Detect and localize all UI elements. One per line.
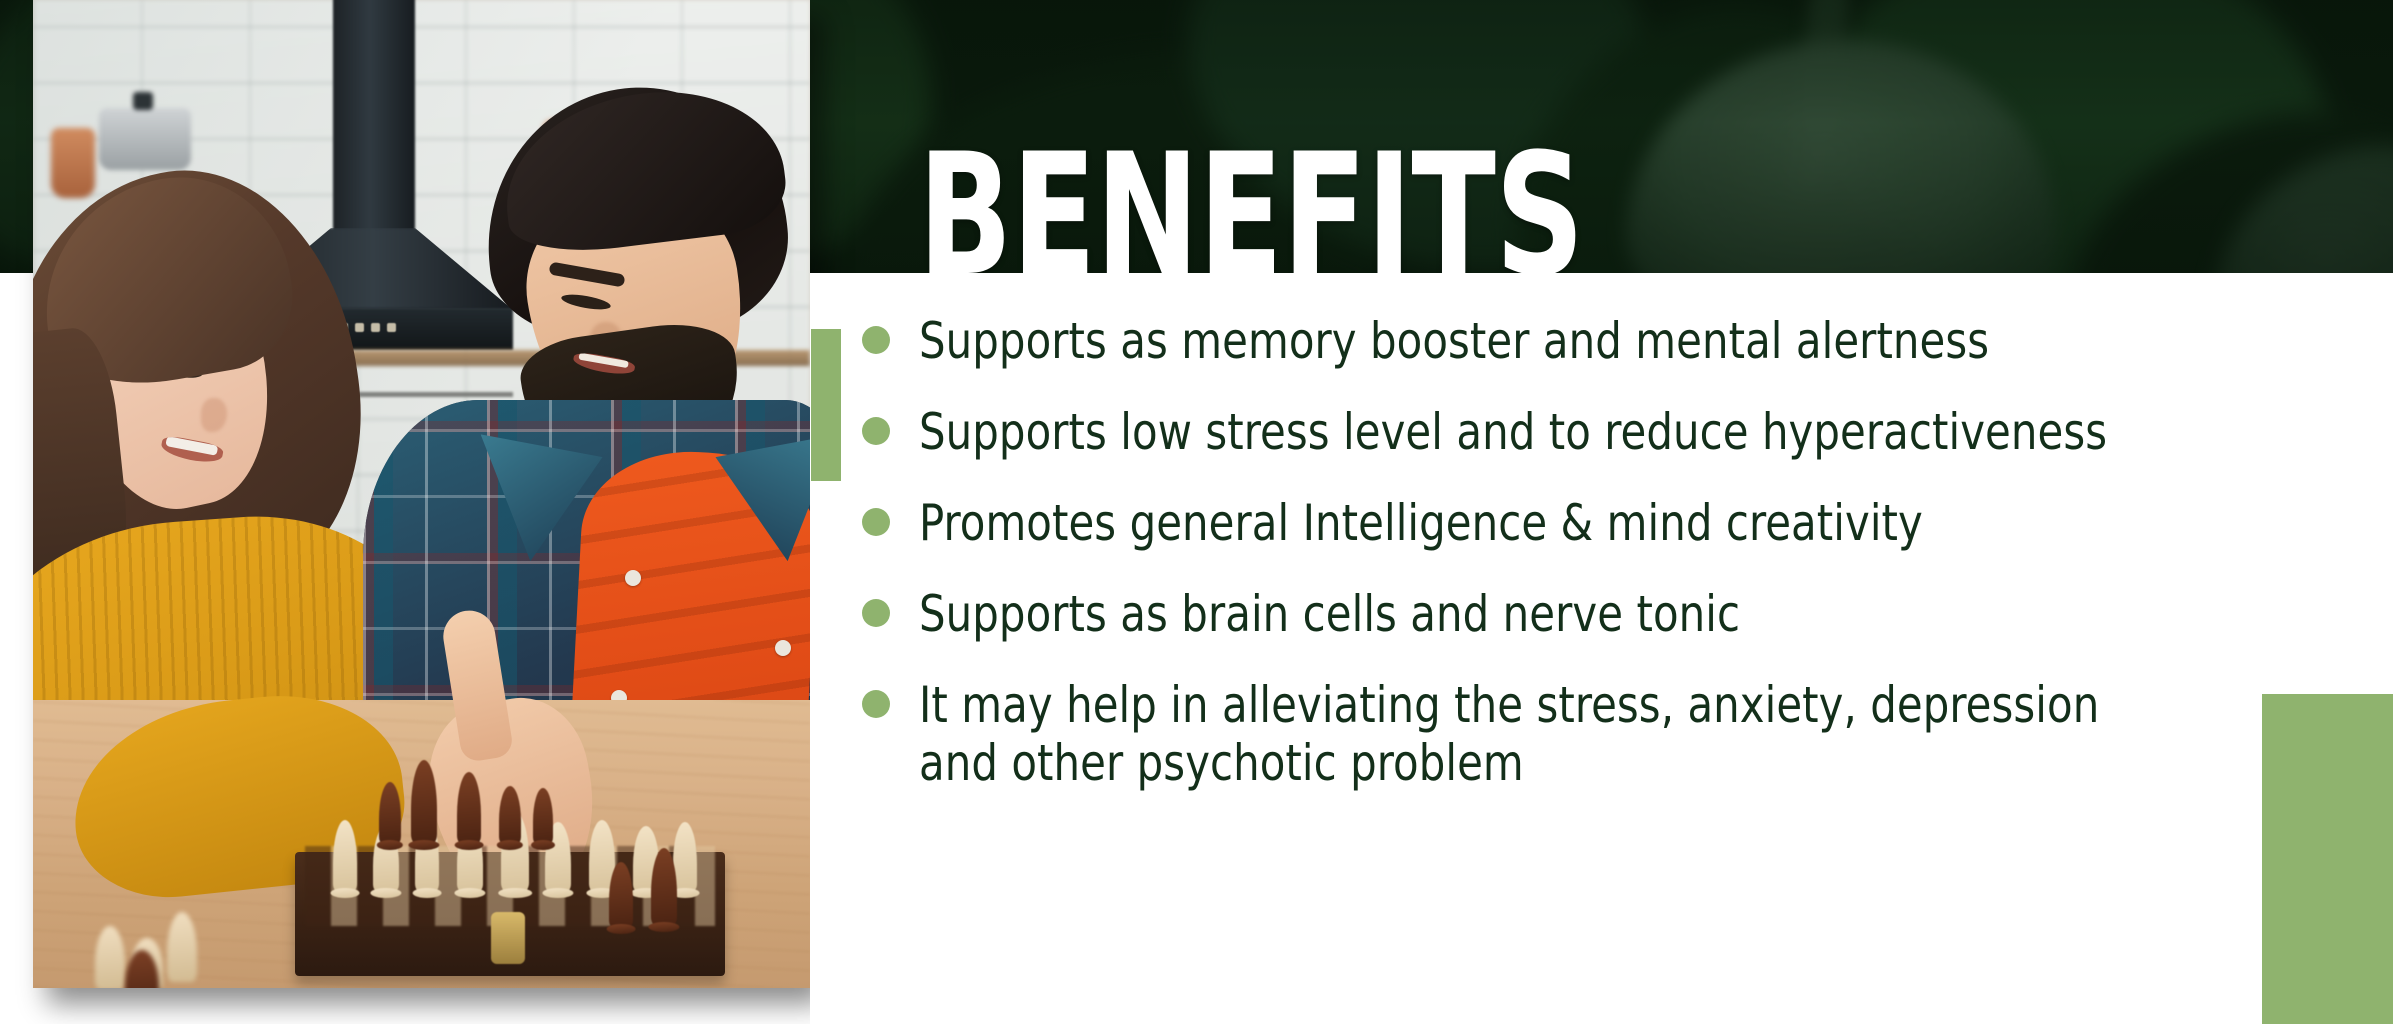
list-item: Supports as brain cells and nerve tonic (862, 585, 2242, 643)
benefit-text: Promotes general Intelligence & mind cre… (919, 494, 1923, 552)
benefits-banner: BENEFITS (0, 0, 2393, 1024)
accent-bar-left (811, 329, 841, 481)
bullet-dot-icon (862, 417, 890, 445)
clay-jar-left (51, 128, 95, 198)
couple-chess-photo (33, 0, 810, 988)
cooking-pot (99, 108, 191, 170)
shirt-button (625, 570, 641, 586)
list-item: It may help in alleviating the stress, a… (862, 676, 2242, 792)
range-hood-stack (333, 0, 415, 232)
benefit-text: Supports as memory booster and mental al… (919, 312, 1989, 370)
benefits-list: Supports as memory booster and mental al… (862, 312, 2242, 792)
bullet-dot-icon (862, 599, 890, 627)
range-hood-lights (339, 323, 413, 332)
benefit-text: It may help in alleviating the stress, a… (919, 676, 2099, 792)
benefit-text: Supports low stress level and to reduce … (919, 403, 2107, 461)
bullet-dot-icon (862, 690, 890, 718)
shirt-button (775, 640, 791, 656)
chess-board-clasp (491, 912, 525, 964)
list-item: Promotes general Intelligence & mind cre… (862, 494, 2242, 552)
list-item: Supports low stress level and to reduce … (862, 403, 2242, 461)
list-item: Supports as memory booster and mental al… (862, 312, 2242, 370)
bullet-dot-icon (862, 326, 890, 354)
benefit-text: Supports as brain cells and nerve tonic (919, 585, 1740, 643)
accent-block-bottom-right (2262, 694, 2393, 1024)
bullet-dot-icon (862, 508, 890, 536)
